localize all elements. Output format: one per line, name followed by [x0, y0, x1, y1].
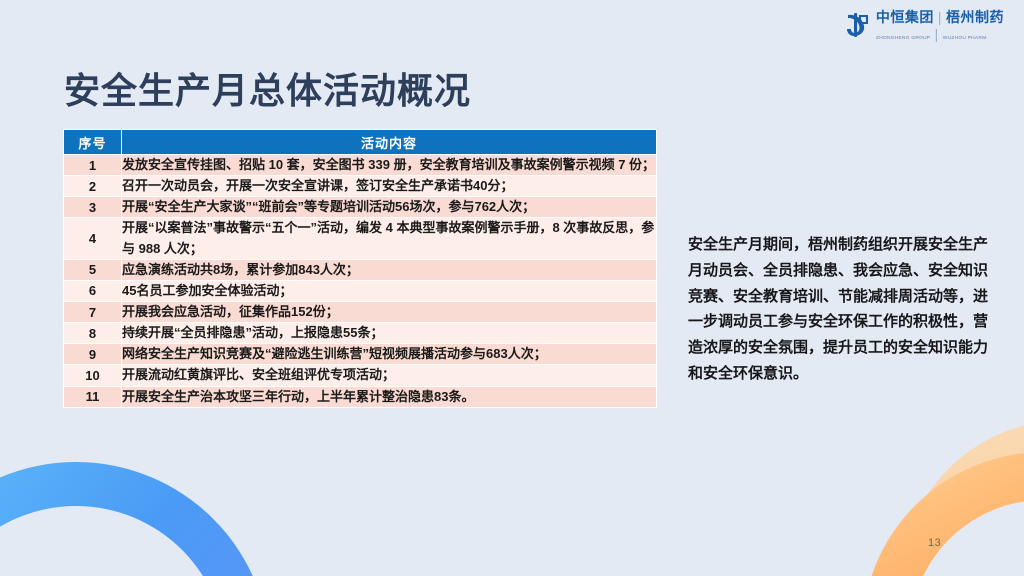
column-header-index: 序号 [64, 130, 122, 155]
blue-ring-decoration [0, 462, 270, 576]
logo-en-separator: | [934, 27, 938, 41]
table-cell-content: 开展安全生产治本攻坚三年行动，上半年累计整治隐患83条。 [122, 386, 657, 407]
table-cell-index: 8 [64, 323, 122, 344]
table-row: 3开展“安全生产大家谈”“班前会”等专题培训活动56场次，参与762人次； [64, 197, 657, 218]
summary-paragraph: 安全生产月期间，梧州制药组织开展安全生产月动员会、全员排隐患、我会应急、安全知识… [688, 232, 988, 387]
table-cell-content: 发放安全宣传挂图、招贴 10 套，安全图书 339 册，安全教育培训及事故案例警… [122, 155, 657, 176]
blue-ring-outer-decoration [0, 492, 220, 576]
table-cell-index: 10 [64, 365, 122, 386]
table-cell-index: 2 [64, 176, 122, 197]
table-row: 11开展安全生产治本攻坚三年行动，上半年累计整治隐患83条。 [64, 386, 657, 407]
table-cell-index: 3 [64, 197, 122, 218]
page-number: 13 [928, 537, 941, 549]
table-row: 8持续开展“全员排隐患”活动，上报隐患55条； [64, 323, 657, 344]
table-cell-index: 9 [64, 344, 122, 365]
table-cell-index: 11 [64, 386, 122, 407]
table-cell-content: 45名员工参加安全体验活动； [122, 280, 657, 301]
orange-ring-outer-decoration [900, 420, 1024, 576]
logo-chinese-row: 中恒集团 | 梧州制药 [876, 10, 1004, 24]
page-title: 安全生产月总体活动概况 [64, 62, 471, 114]
logo-english-row: ZHONGHENG GROUP | WUZHOU PHARM. [876, 27, 1011, 41]
table-row: 9网络安全生产知识竞赛及“避险逃生训练营”短视频展播活动参与683人次； [64, 344, 657, 365]
table-cell-content: 网络安全生产知识竞赛及“避险逃生训练营”短视频展播活动参与683人次； [122, 344, 657, 365]
table-cell-content: 开展我会应急活动，征集作品152份； [122, 301, 657, 322]
table-row: 4开展“以案普法”事故警示“五个一”活动，编发 4 本典型事故案例警示手册，8 … [64, 218, 657, 259]
logo-en-secondary: WUZHOU PHARM. [943, 36, 988, 41]
slide-canvas: 中恒集团 | 梧州制药 ZHONGHENG GROUP | WUZHOU PHA… [0, 0, 1024, 576]
logo-en-primary: ZHONGHENG GROUP [876, 36, 930, 41]
table-cell-content: 开展流动红黄旗评比、安全班组评优专项活动； [122, 365, 657, 386]
logo-cn-separator: | [938, 10, 942, 24]
logo-cn-secondary: 梧州制药 [946, 10, 1004, 24]
company-logo: 中恒集团 | 梧州制药 ZHONGHENG GROUP | WUZHOU PHA… [844, 8, 1004, 42]
table-cell-index: 6 [64, 280, 122, 301]
logo-wordmark: 中恒集团 | 梧州制药 ZHONGHENG GROUP | WUZHOU PHA… [876, 10, 1004, 41]
zhongheng-logo-mark-icon [844, 11, 870, 39]
table-row: 645名员工参加安全体验活动； [64, 280, 657, 301]
table-cell-index: 5 [64, 259, 122, 280]
table-header-row: 序号 活动内容 [64, 130, 657, 155]
orange-ring-decoration [862, 452, 1024, 576]
table-header: 序号 活动内容 [64, 130, 657, 155]
logo-cn-primary: 中恒集团 [876, 10, 934, 24]
table-cell-content: 开展“安全生产大家谈”“班前会”等专题培训活动56场次，参与762人次； [122, 197, 657, 218]
table-cell-content: 开展“以案普法”事故警示“五个一”活动，编发 4 本典型事故案例警示手册，8 次… [122, 218, 657, 259]
table-cell-index: 7 [64, 301, 122, 322]
table-row: 2召开一次动员会，开展一次安全宣讲课，签订安全生产承诺书40分； [64, 176, 657, 197]
table-cell-content: 召开一次动员会，开展一次安全宣讲课，签订安全生产承诺书40分； [122, 176, 657, 197]
table-row: 5应急演练活动共8场，累计参加843人次； [64, 259, 657, 280]
table-row: 10开展流动红黄旗评比、安全班组评优专项活动； [64, 365, 657, 386]
table-cell-index: 1 [64, 155, 122, 176]
activity-summary-table: 序号 活动内容 1发放安全宣传挂图、招贴 10 套，安全图书 339 册，安全教… [63, 129, 657, 408]
column-header-content: 活动内容 [122, 130, 657, 155]
table-cell-index: 4 [64, 218, 122, 259]
table-row: 1发放安全宣传挂图、招贴 10 套，安全图书 339 册，安全教育培训及事故案例… [64, 155, 657, 176]
table-cell-content: 持续开展“全员排隐患”活动，上报隐患55条； [122, 323, 657, 344]
table-cell-content: 应急演练活动共8场，累计参加843人次； [122, 259, 657, 280]
table-body: 1发放安全宣传挂图、招贴 10 套，安全图书 339 册，安全教育培训及事故案例… [64, 155, 657, 408]
table-row: 7开展我会应急活动，征集作品152份； [64, 301, 657, 322]
